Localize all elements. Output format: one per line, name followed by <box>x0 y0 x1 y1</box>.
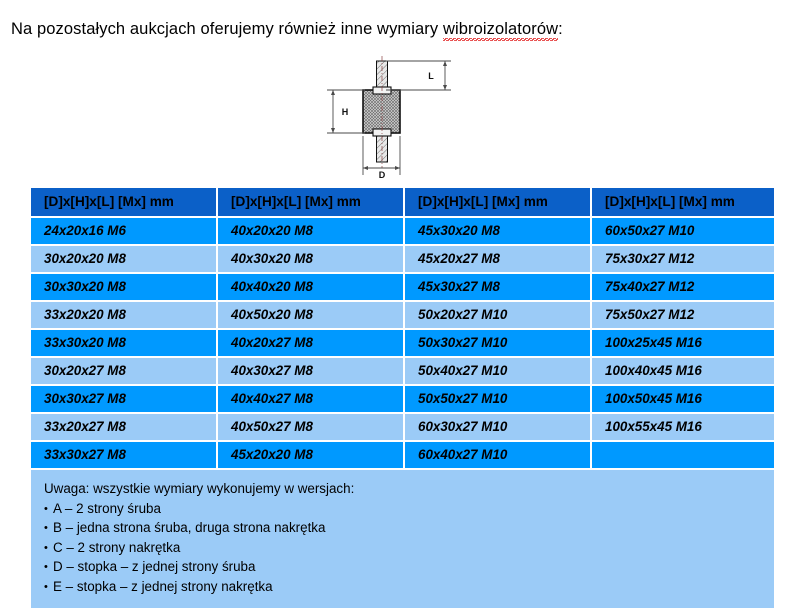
dimensions-table: [D]x[H]x[L] [Mx] mm [D]x[H]x[L] [Mx] mm … <box>29 186 776 610</box>
table-cell: 60x50x27 M10 <box>592 218 774 244</box>
note-list-item: C – 2 strony nakrętka <box>44 538 761 558</box>
table-cell: 50x20x27 M10 <box>405 302 590 328</box>
table-cell: 30x30x27 M8 <box>31 386 216 412</box>
table-row: 33x30x27 M845x20x20 M860x40x27 M10 <box>31 442 774 468</box>
bolt-length-arrow-bottom <box>443 85 447 90</box>
rubber-body <box>363 90 400 133</box>
diameter-arrow-left <box>363 166 368 170</box>
page-title-text: Na pozostałych aukcjach oferujemy równie… <box>11 20 443 38</box>
table-cell: 50x30x27 M10 <box>405 330 590 356</box>
table-cell: 100x40x45 M16 <box>592 358 774 384</box>
table-cell: 75x30x27 M12 <box>592 246 774 272</box>
table-row: 33x20x20 M840x50x20 M850x20x27 M1075x50x… <box>31 302 774 328</box>
bolt-length-arrow-top <box>443 61 447 66</box>
table-cell: 40x40x20 M8 <box>218 274 403 300</box>
table-header-row: [D]x[H]x[L] [Mx] mm [D]x[H]x[L] [Mx] mm … <box>31 188 774 216</box>
column-header-1: [D]x[H]x[L] [Mx] mm <box>31 188 216 216</box>
table-cell: 30x20x20 M8 <box>31 246 216 272</box>
note-list-item: A – 2 strony śruba <box>44 499 761 519</box>
table-cell: 75x50x27 M12 <box>592 302 774 328</box>
note-list-item: D – stopka – z jednej strony śruba <box>44 557 761 577</box>
page-title: Na pozostałych aukcjach oferujemy równie… <box>11 20 563 39</box>
bolt-length-label: L <box>428 71 434 81</box>
table-row: 24x20x16 M640x20x20 M845x30x20 M860x50x2… <box>31 218 774 244</box>
diameter-label: D <box>379 170 386 180</box>
table-cell <box>592 442 774 468</box>
table-cell: 40x50x20 M8 <box>218 302 403 328</box>
table-cell: 40x30x27 M8 <box>218 358 403 384</box>
table-cell: 75x40x27 M12 <box>592 274 774 300</box>
table-row: 30x20x20 M840x30x20 M845x20x27 M875x30x2… <box>31 246 774 272</box>
isolator-cross-section-icon: H D L <box>318 54 484 180</box>
note-row: Uwaga: wszystkie wymiary wykonujemy w we… <box>31 470 774 608</box>
height-arrow-top <box>331 90 335 95</box>
note-list-item: B – jedna strona śruba, druga strona nak… <box>44 518 761 538</box>
table-cell: 45x20x27 M8 <box>405 246 590 272</box>
page-title-suffix: : <box>558 20 563 38</box>
table-cell: 33x30x27 M8 <box>31 442 216 468</box>
table-cell: 60x30x27 M10 <box>405 414 590 440</box>
table-cell: 30x20x27 M8 <box>31 358 216 384</box>
height-arrow-bottom <box>331 128 335 133</box>
note-cell: Uwaga: wszystkie wymiary wykonujemy w we… <box>31 470 774 608</box>
table-cell: 100x50x45 M16 <box>592 386 774 412</box>
table-row: 33x20x27 M840x50x27 M860x30x27 M10100x55… <box>31 414 774 440</box>
table-cell: 60x40x27 M10 <box>405 442 590 468</box>
table-cell: 50x40x27 M10 <box>405 358 590 384</box>
table-cell: 40x40x27 M8 <box>218 386 403 412</box>
misspelled-word: wibroizolatorów <box>443 20 558 41</box>
table-cell: 33x30x20 M8 <box>31 330 216 356</box>
table-cell: 33x20x27 M8 <box>31 414 216 440</box>
table-cell: 45x30x27 M8 <box>405 274 590 300</box>
table-cell: 100x55x45 M16 <box>592 414 774 440</box>
table-cell: 45x30x20 M8 <box>405 218 590 244</box>
table-cell: 33x20x20 M8 <box>31 302 216 328</box>
height-label: H <box>342 107 349 117</box>
table-cell: 40x30x20 M8 <box>218 246 403 272</box>
column-header-2: [D]x[H]x[L] [Mx] mm <box>218 188 403 216</box>
table-row: 30x20x27 M840x30x27 M850x40x27 M10100x40… <box>31 358 774 384</box>
table-cell: 45x20x20 M8 <box>218 442 403 468</box>
note-heading: Uwaga: wszystkie wymiary wykonujemy w we… <box>44 479 761 499</box>
diameter-arrow-right <box>395 166 400 170</box>
table-row: 33x30x20 M840x20x27 M850x30x27 M10100x25… <box>31 330 774 356</box>
upper-bolt <box>377 61 388 90</box>
table-cell: 40x20x20 M8 <box>218 218 403 244</box>
table-cell: 50x50x27 M10 <box>405 386 590 412</box>
table-cell: 40x50x27 M8 <box>218 414 403 440</box>
table-cell: 30x30x20 M8 <box>31 274 216 300</box>
table-cell: 24x20x16 M6 <box>31 218 216 244</box>
table-cell: 40x20x27 M8 <box>218 330 403 356</box>
column-header-3: [D]x[H]x[L] [Mx] mm <box>405 188 590 216</box>
table-row: 30x30x20 M840x40x20 M845x30x27 M875x40x2… <box>31 274 774 300</box>
table-body: 24x20x16 M640x20x20 M845x30x20 M860x50x2… <box>31 218 774 468</box>
table-row: 30x30x27 M840x40x27 M850x50x27 M10100x50… <box>31 386 774 412</box>
note-list-item: E – stopka – z jednej strony nakrętka <box>44 577 761 597</box>
table-cell: 100x25x45 M16 <box>592 330 774 356</box>
note-list: A – 2 strony śrubaB – jedna strona śruba… <box>44 499 761 597</box>
column-header-4: [D]x[H]x[L] [Mx] mm <box>592 188 774 216</box>
isolator-diagram: H D L <box>318 54 484 180</box>
